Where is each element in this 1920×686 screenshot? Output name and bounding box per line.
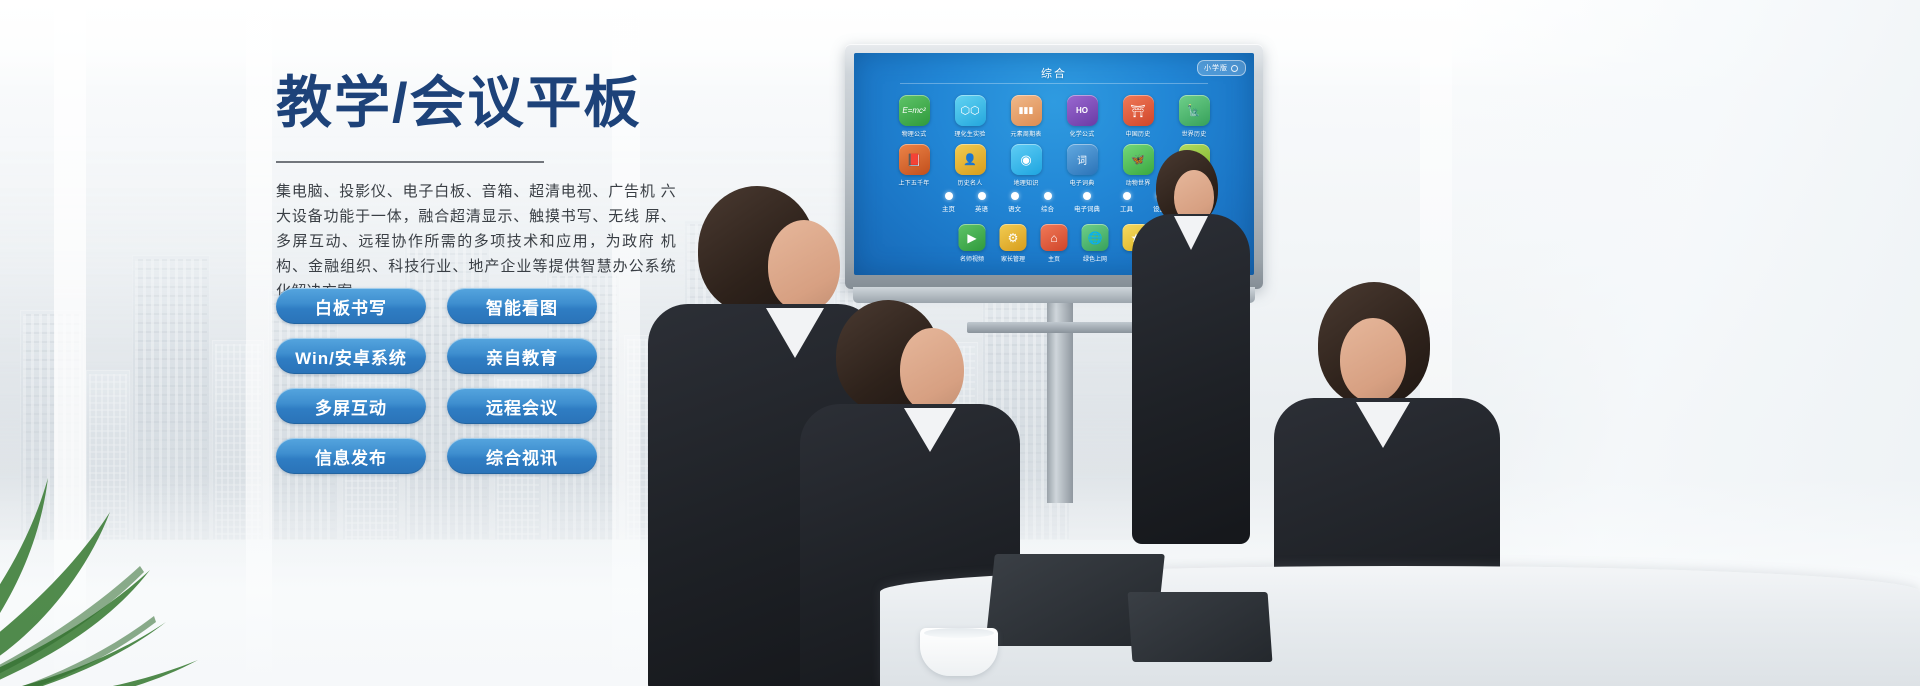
app-tile-world-history[interactable]: 🗽 世界历史 (1171, 95, 1217, 138)
app-label: 生物世界 (1182, 178, 1207, 187)
grade-badge-label: 小学版 (1204, 63, 1228, 73)
power-indicator-icon (1225, 292, 1231, 298)
book-icon: 📕 (899, 144, 930, 175)
tab-tools[interactable]: 工具 (1120, 192, 1133, 213)
feature-button-info-publish[interactable]: 信息发布 (276, 438, 426, 474)
dictionary-icon: 词 (1067, 144, 1098, 175)
tab-dot-icon (1011, 192, 1019, 200)
interactive-flat-panel: 综合 小学版 E=mc² 物理公式 ⬡⬡ (845, 44, 1275, 289)
tab-settings[interactable]: 设置 (1153, 192, 1166, 213)
feature-button-education[interactable]: 亲自教育 (447, 338, 597, 374)
person-icon: 👤 (955, 144, 986, 175)
app-label: 动物世界 (1126, 178, 1151, 187)
hero-banner: 教学/会议平板 集电脑、投影仪、电子白板、音箱、超清电视、广告机 六大设备功能于… (0, 0, 1920, 686)
grade-badge[interactable]: 小学版 (1197, 60, 1246, 76)
subject-tab-row: 主页 英语 语文 综合 (942, 192, 1166, 213)
panel-stand-post (1047, 303, 1073, 503)
tab-dot-icon (1044, 192, 1052, 200)
tab-chinese[interactable]: 语文 (1008, 192, 1021, 213)
app-tile-geography[interactable]: ◉ 地理知识 (1003, 144, 1049, 187)
dock-item-parent-control[interactable]: ⚙ 家长管理 (1000, 224, 1027, 263)
title-divider (276, 161, 544, 163)
feature-button-whiteboard[interactable]: 白板书写 (276, 288, 426, 324)
dock-row: ▶ 名师视频 ⚙ 家长管理 ⌂ 主页 🌐 绿色上网 (959, 224, 1150, 263)
leaf-icon: 🌿 (1179, 144, 1210, 175)
app-grid: E=mc² 物理公式 ⬡⬡ 理化生实验 ▮▮▮ 元素周 (891, 95, 1217, 187)
hero-copy: 教学/会议平板 集电脑、投影仪、电子白板、音箱、超清电视、广告机 六大设备功能于… (276, 72, 696, 304)
feature-button-multiscreen[interactable]: 多屏互动 (276, 388, 426, 424)
app-label: 理化生实验 (954, 129, 985, 138)
butterfly-icon: 🦋 (1123, 144, 1154, 175)
app-tile-periodic-table[interactable]: ▮▮▮ 元素周期表 (1003, 95, 1049, 138)
app-label: 化学公式 (1070, 129, 1095, 138)
physics-formula-icon: E=mc² (899, 95, 930, 126)
panel-stand-foot (967, 322, 1153, 333)
refresh-icon (1231, 65, 1238, 72)
play-icon: ▶ (959, 224, 986, 251)
gear-icon: ⚙ (1000, 224, 1027, 251)
app-tile-biology-world[interactable]: 🌿 生物世界 (1171, 144, 1217, 187)
app-tile-historical-figures[interactable]: 👤 历史名人 (947, 144, 993, 187)
app-label: 元素周期表 (1010, 129, 1041, 138)
tab-dot-icon (978, 192, 986, 200)
tab-dot-icon (1123, 192, 1131, 200)
pagoda-icon: ⛩ (1123, 95, 1154, 126)
tab-comprehensive[interactable]: 综合 (1041, 192, 1054, 213)
feature-button-smart-view[interactable]: 智能看图 (447, 288, 597, 324)
app-label: 物理公式 (902, 129, 927, 138)
statue-icon: 🗽 (1179, 95, 1210, 126)
page-title: 教学/会议平板 (276, 72, 696, 135)
tab-home[interactable]: 主页 (942, 192, 955, 213)
panel-chin (853, 287, 1255, 303)
app-tile-physics-formulas[interactable]: E=mc² 物理公式 (891, 95, 937, 138)
chemistry-icon: HO (1067, 95, 1098, 126)
screen-title-rule (900, 83, 1208, 84)
app-label: 中国历史 (1126, 129, 1151, 138)
globe-icon: ◉ (1011, 144, 1042, 175)
home-icon: ⌂ (1041, 224, 1068, 251)
palm-leaf-decoration (0, 446, 300, 686)
app-label: 世界历史 (1182, 129, 1207, 138)
star-icon: ★ (1123, 224, 1150, 251)
app-tile-science-experiments[interactable]: ⬡⬡ 理化生实验 (947, 95, 993, 138)
dock-item-home[interactable]: ⌂ 主页 (1041, 224, 1068, 263)
panel-bezel: 综合 小学版 E=mc² 物理公式 ⬡⬡ (845, 44, 1263, 289)
app-tile-chemistry-formulas[interactable]: HO 化学公式 (1059, 95, 1105, 138)
app-label: 电子词典 (1070, 178, 1095, 187)
periodic-table-icon: ▮▮▮ (1011, 95, 1042, 126)
app-tile-five-thousand-years[interactable]: 📕 上下五千年 (891, 144, 937, 187)
hero-description: 集电脑、投影仪、电子白板、音箱、超清电视、广告机 六大设备功能于一体，融合超清显… (276, 179, 676, 304)
tab-english[interactable]: 英语 (975, 192, 988, 213)
app-tile-chinese-history[interactable]: ⛩ 中国历史 (1115, 95, 1161, 138)
molecule-icon: ⬡⬡ (955, 95, 986, 126)
feature-button-video-conference[interactable]: 综合视讯 (447, 438, 597, 474)
feature-button-os[interactable]: Win/安卓系统 (276, 338, 426, 374)
globe-icon: 🌐 (1082, 224, 1109, 251)
dock-item-teacher-video[interactable]: ▶ 名师视频 (959, 224, 986, 263)
app-label: 历史名人 (958, 178, 983, 187)
feature-button-remote-meeting[interactable]: 远程会议 (447, 388, 597, 424)
tab-dot-icon (1083, 192, 1091, 200)
feature-button-grid: 白板书写 智能看图 Win/安卓系统 亲自教育 多屏互动 远程会议 信息发布 综… (276, 288, 597, 474)
tab-dot-icon (945, 192, 953, 200)
tab-dot-icon (1156, 192, 1164, 200)
app-tile-dictionary[interactable]: 词 电子词典 (1059, 144, 1105, 187)
app-tile-animal-world[interactable]: 🦋 动物世界 (1115, 144, 1161, 187)
screen-title: 综合 (854, 65, 1254, 81)
dock-item-favorites[interactable]: ★ (1123, 224, 1150, 263)
dock-item-safe-browsing[interactable]: 🌐 绿色上网 (1082, 224, 1109, 263)
tab-dictionary[interactable]: 电子词典 (1074, 192, 1100, 213)
app-label: 地理知识 (1014, 178, 1039, 187)
panel-screen[interactable]: 综合 小学版 E=mc² 物理公式 ⬡⬡ (854, 53, 1254, 275)
app-label: 上下五千年 (898, 178, 929, 187)
